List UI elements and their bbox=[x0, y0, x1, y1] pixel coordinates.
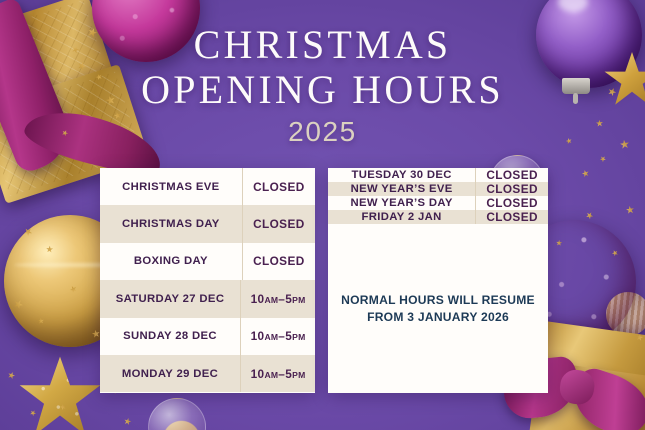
table-row: NEW YEAR’S EVECLOSED bbox=[328, 182, 548, 196]
table-row: BOXING DAYCLOSED bbox=[100, 243, 315, 280]
hours-cell: CLOSED bbox=[476, 210, 548, 224]
day-label: NEW YEAR’S DAY bbox=[328, 196, 476, 210]
hours-cell: 10AM–5PM bbox=[241, 355, 315, 392]
star-gold-glitter-bottom-left-icon bbox=[18, 355, 102, 430]
hours-value: CLOSED bbox=[253, 180, 305, 194]
confetti-star-icon bbox=[599, 155, 607, 163]
day-label: CHRISTMAS DAY bbox=[100, 205, 243, 242]
hours-value: CLOSED bbox=[253, 217, 305, 231]
confetti-star-icon bbox=[585, 211, 595, 221]
hours-cell: CLOSED bbox=[243, 243, 315, 280]
hours-cell: CLOSED bbox=[243, 168, 315, 205]
hours-cell: CLOSED bbox=[476, 168, 548, 182]
resume-note-date: 3 JANUARY 2026 bbox=[407, 310, 509, 324]
christmas-opening-hours-poster: CHRISTMAS OPENING HOURS 2025 CHRISTMAS E… bbox=[0, 0, 645, 430]
resume-note-line-1: NORMAL HOURS WILL RESUME bbox=[341, 292, 535, 309]
confetti-star-icon bbox=[29, 409, 37, 417]
opening-hours-table-right: TUESDAY 30 DECCLOSEDNEW YEAR’S EVECLOSED… bbox=[328, 168, 548, 393]
hours-cell: CLOSED bbox=[476, 196, 548, 210]
confetti-star-icon bbox=[23, 227, 33, 237]
hours-value: 10AM–5PM bbox=[251, 329, 306, 343]
day-label: NEW YEAR’S EVE bbox=[328, 182, 476, 196]
confetti-star-icon bbox=[70, 286, 78, 294]
hours-cell: CLOSED bbox=[243, 205, 315, 242]
table-row: NEW YEAR’S DAYCLOSED bbox=[328, 196, 548, 210]
day-label: CHRISTMAS EVE bbox=[100, 168, 243, 205]
table-row: MONDAY 29 DEC10AM–5PM bbox=[100, 355, 315, 392]
day-label: TUESDAY 30 DEC bbox=[328, 168, 476, 182]
hours-value: 10AM–5PM bbox=[251, 292, 306, 306]
bauble-clear-gold-bottom-left-icon bbox=[148, 398, 206, 430]
hours-value: CLOSED bbox=[486, 168, 538, 182]
bauble-striped-right-icon bbox=[606, 292, 645, 336]
confetti-star-icon bbox=[37, 317, 45, 325]
title-line-1: CHRISTMAS bbox=[0, 22, 645, 67]
page-title: CHRISTMAS OPENING HOURS 2025 bbox=[0, 22, 645, 148]
opening-hours-tables: CHRISTMAS EVECLOSEDCHRISTMAS DAYCLOSEDBO… bbox=[100, 168, 548, 393]
day-label: FRIDAY 2 JAN bbox=[328, 210, 476, 224]
day-label: SATURDAY 27 DEC bbox=[100, 280, 241, 317]
confetti-star-icon bbox=[555, 239, 563, 247]
title-line-2: OPENING HOURS bbox=[0, 67, 645, 112]
hours-value: CLOSED bbox=[253, 254, 305, 268]
confetti-star-icon bbox=[60, 404, 66, 410]
confetti-star-icon bbox=[611, 249, 619, 257]
confetti-star-icon bbox=[45, 245, 55, 255]
confetti-star-icon bbox=[8, 372, 15, 379]
day-label: SUNDAY 28 DEC bbox=[100, 318, 241, 355]
resume-note-line-2: FROM 3 JANUARY 2026 bbox=[367, 309, 509, 326]
confetti-star-icon bbox=[123, 417, 133, 427]
confetti-star-icon bbox=[13, 299, 23, 309]
day-label: MONDAY 29 DEC bbox=[100, 355, 241, 392]
table-row: TUESDAY 30 DECCLOSED bbox=[328, 168, 548, 182]
hours-value: CLOSED bbox=[486, 182, 538, 196]
confetti-star-icon bbox=[581, 169, 590, 178]
table-row: SUNDAY 28 DEC10AM–5PM bbox=[100, 318, 315, 355]
table-row: SATURDAY 27 DEC10AM–5PM bbox=[100, 280, 315, 317]
hours-cell: CLOSED bbox=[476, 182, 548, 196]
confetti-star-icon bbox=[625, 205, 634, 214]
resume-note-prefix: FROM bbox=[367, 310, 407, 324]
table-row: FRIDAY 2 JANCLOSED bbox=[328, 210, 548, 224]
opening-hours-table-left: CHRISTMAS EVECLOSEDCHRISTMAS DAYCLOSEDBO… bbox=[100, 168, 315, 393]
hours-cell: 10AM–5PM bbox=[241, 318, 315, 355]
resume-note: NORMAL HOURS WILL RESUME FROM 3 JANUARY … bbox=[328, 224, 548, 393]
table-row: CHRISTMAS DAYCLOSED bbox=[100, 205, 315, 242]
hours-value: CLOSED bbox=[486, 196, 538, 210]
hours-value: 10AM–5PM bbox=[251, 367, 306, 381]
hours-cell: 10AM–5PM bbox=[241, 280, 315, 317]
title-year: 2025 bbox=[0, 115, 645, 148]
day-label: BOXING DAY bbox=[100, 243, 243, 280]
confetti-star-icon bbox=[635, 333, 644, 342]
table-row: CHRISTMAS EVECLOSED bbox=[100, 168, 315, 205]
hours-value: CLOSED bbox=[486, 210, 538, 224]
